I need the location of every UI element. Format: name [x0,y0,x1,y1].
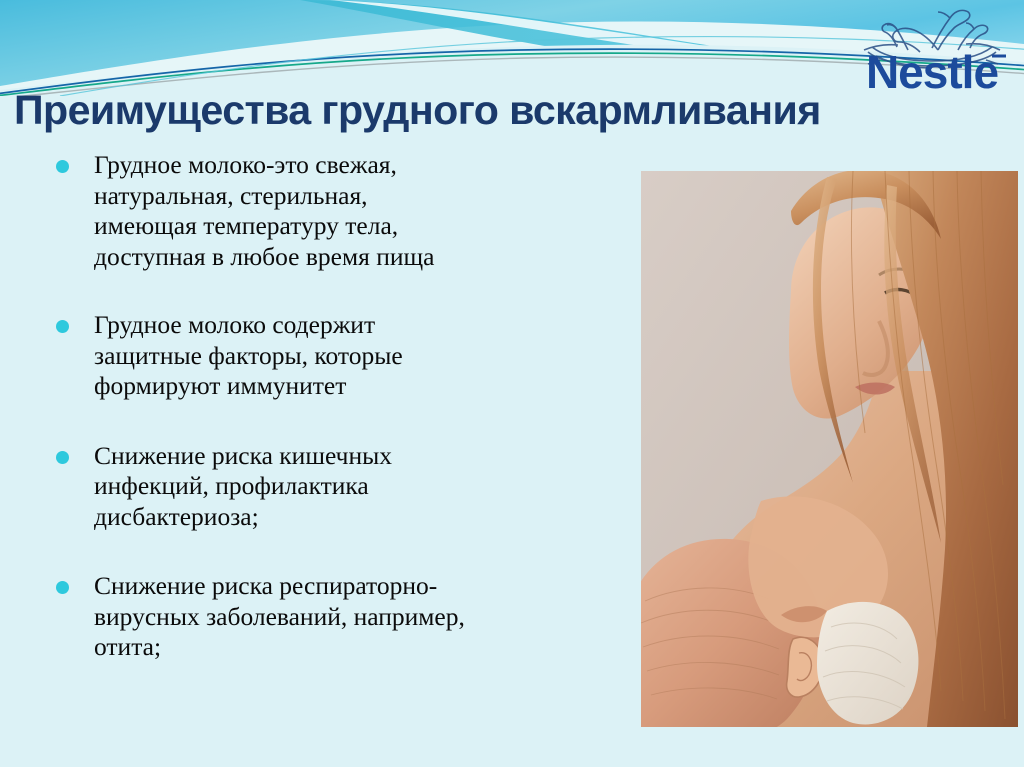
breastfeeding-photo [641,171,1018,727]
photo-cloth [817,602,918,725]
bullet-dot-icon [56,581,69,594]
list-item: Грудное молоко-это свежая, натуральная, … [52,150,627,272]
header-wave-banner [0,0,1024,96]
bullet-list: Грудное молоко-это свежая, натуральная, … [52,150,627,663]
bullet-dot-icon [56,451,69,464]
bullet-text: Снижение риска респираторно- вирусных за… [94,571,627,663]
bullet-text: Грудное молоко содержит защитные факторы… [94,310,627,402]
bullet-text: Грудное молоко-это свежая, натуральная, … [94,150,627,272]
bullet-text: Снижение риска кишечных инфекций, профил… [94,441,627,533]
bullet-dot-icon [56,160,69,173]
page-title: Преимущества грудного вскармливания [14,86,1024,134]
bullet-dot-icon [56,320,69,333]
slide-root: Nestle Преимущества грудного вскармливан… [0,0,1024,767]
list-item: Грудное молоко содержит защитные факторы… [52,310,627,402]
list-item: Снижение риска респираторно- вирусных за… [52,571,627,663]
list-item: Снижение риска кишечных инфекций, профил… [52,441,627,533]
